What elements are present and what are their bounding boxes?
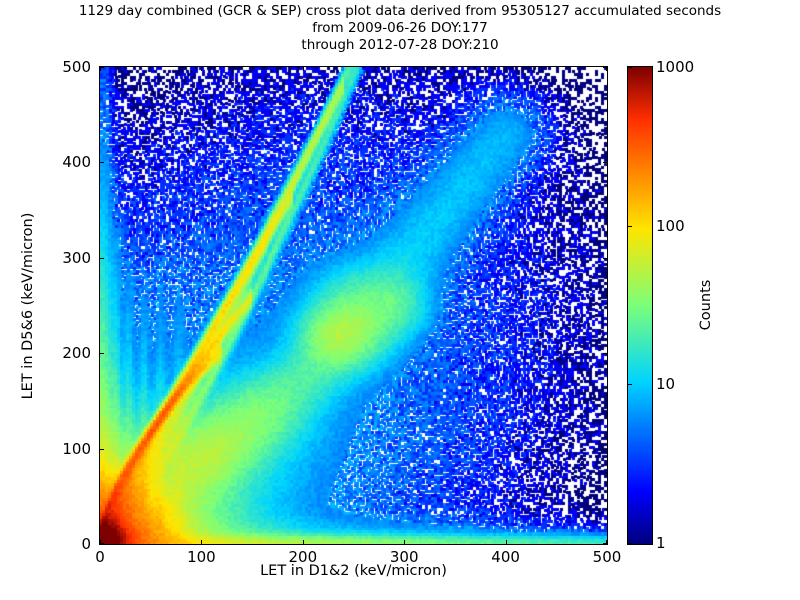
plot-title-line-3: through 2012-07-28 DOY:210 [0, 37, 800, 54]
y-tick [100, 258, 104, 259]
x-tick [201, 67, 202, 71]
x-tick [506, 540, 507, 544]
colorbar-tick-label: 1000 [656, 58, 694, 76]
plot-title: 1129 day combined (GCR & SEP) cross plot… [0, 3, 800, 54]
y-tick [603, 258, 607, 259]
y-tick [603, 449, 607, 450]
y-axis-label-text: LET in D5&6 (keV/micron) [20, 212, 36, 399]
x-tick [404, 540, 405, 544]
y-tick-label: 200 [43, 344, 91, 362]
plot-title-line-1: 1129 day combined (GCR & SEP) cross plot… [0, 3, 800, 20]
y-tick [100, 543, 104, 544]
colorbar-gradient [628, 67, 652, 544]
colorbar-tick [628, 226, 632, 227]
colorbar-frame [627, 66, 653, 545]
y-tick [603, 162, 607, 163]
y-tick [603, 543, 607, 544]
y-tick [100, 67, 104, 68]
plot-axes-frame [99, 66, 608, 545]
x-tick [404, 67, 405, 71]
y-tick-label: 0 [43, 535, 91, 553]
y-tick [100, 353, 104, 354]
plot-title-line-2: from 2009-06-26 DOY:177 [0, 20, 800, 37]
y-tick-label: 400 [43, 153, 91, 171]
y-tick [603, 353, 607, 354]
x-tick [201, 540, 202, 544]
y-tick [603, 67, 607, 68]
x-tick [303, 67, 304, 71]
colorbar-tick-label: 1 [656, 534, 666, 552]
y-tick-label: 300 [43, 249, 91, 267]
y-tick [100, 162, 104, 163]
x-axis-label: LET in D1&2 (keV/micron) [99, 563, 608, 579]
y-tick-label: 100 [43, 440, 91, 458]
colorbar-tick [628, 384, 632, 385]
colorbar-tick [628, 67, 632, 68]
colorbar-tick [628, 543, 632, 544]
colorbar-tick-label: 10 [656, 375, 675, 393]
x-tick [303, 540, 304, 544]
figure-canvas: 1129 day combined (GCR & SEP) cross plot… [0, 0, 800, 600]
y-tick [100, 449, 104, 450]
colorbar-label-text: Counts [698, 280, 714, 331]
density-scatter-canvas [100, 67, 607, 544]
colorbar-tick-label: 100 [656, 217, 685, 235]
x-tick [506, 67, 507, 71]
y-tick-label: 500 [43, 58, 91, 76]
